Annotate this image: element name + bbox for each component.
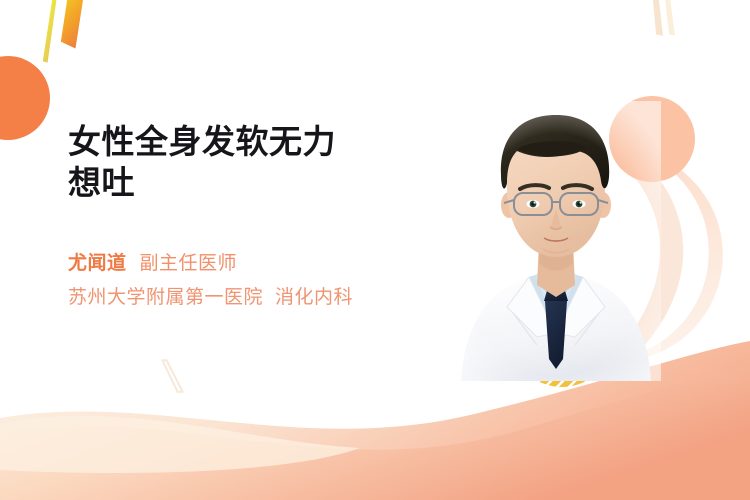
doctor-byline: 尤闻道副主任医师 [68, 253, 448, 275]
doctor-affiliation: 苏州大学附属第一医院消化内科 [68, 287, 448, 309]
bottom-wave-front [0, 367, 750, 500]
top-left-stripe-thin [36, 0, 66, 63]
top-left-stripe-thick [51, 0, 95, 48]
top-right-stripe-b [656, 0, 682, 36]
top-right-stripe-a [644, 0, 670, 36]
page-title: 女性全身发软无力 想吐 [68, 121, 448, 203]
doctor-professional-title: 副主任医师 [140, 253, 238, 274]
bottom-left-stripe [162, 360, 182, 393]
doctor-video-cover-card: 女性全身发软无力 想吐 尤闻道副主任医师 苏州大学附属第一医院消化内科 [0, 0, 750, 500]
orange-circle-left [0, 56, 50, 140]
text-block: 女性全身发软无力 想吐 尤闻道副主任医师 苏州大学附属第一医院消化内科 [68, 121, 448, 309]
doctor-department: 消化内科 [275, 287, 353, 308]
doctor-portrait [451, 101, 661, 381]
doctor-hospital: 苏州大学附属第一医院 [68, 287, 263, 308]
doctor-name: 尤闻道 [68, 253, 127, 274]
bottom-wave-left-accent [0, 416, 360, 473]
